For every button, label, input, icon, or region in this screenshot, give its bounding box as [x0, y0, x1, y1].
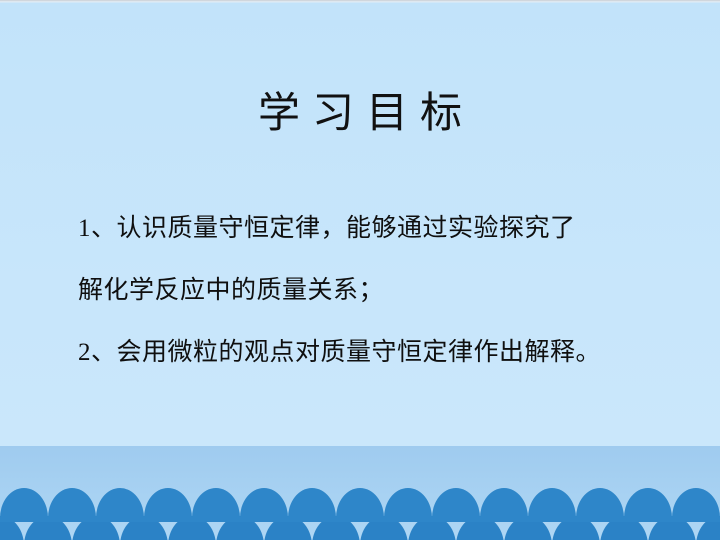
dome-shape	[672, 488, 720, 522]
objective-line-3: 2、会用微粒的观点对质量守恒定律作出解释。	[78, 322, 658, 384]
objective-line-1: 1、认识质量守恒定律，能够通过实验探究了	[78, 198, 658, 260]
page-title: 学习目标	[0, 88, 720, 140]
dome-shape	[48, 488, 96, 522]
dome-shape	[288, 488, 336, 522]
presentation-slide: 学习目标 1、认识质量守恒定律，能够通过实验探究了 解化学反应中的质量关系； 2…	[0, 0, 720, 540]
slide-top-edge	[0, 0, 720, 3]
dome-shape	[336, 488, 384, 522]
dome-shape	[192, 488, 240, 522]
dome-shape	[576, 488, 624, 522]
dome-shape	[240, 488, 288, 522]
dome-shape	[0, 488, 48, 522]
dome-shape	[624, 488, 672, 522]
bottom-decorative-band	[0, 446, 720, 540]
objectives-list: 1、认识质量守恒定律，能够通过实验探究了 解化学反应中的质量关系； 2、会用微粒…	[78, 198, 658, 384]
dome-shape	[144, 488, 192, 522]
dome-row-front	[0, 488, 720, 522]
dome-shape	[480, 488, 528, 522]
objective-line-2: 解化学反应中的质量关系；	[78, 260, 658, 322]
dome-shape	[432, 488, 480, 522]
dome-shape	[384, 488, 432, 522]
dome-shape	[528, 488, 576, 522]
dome-shape	[96, 488, 144, 522]
